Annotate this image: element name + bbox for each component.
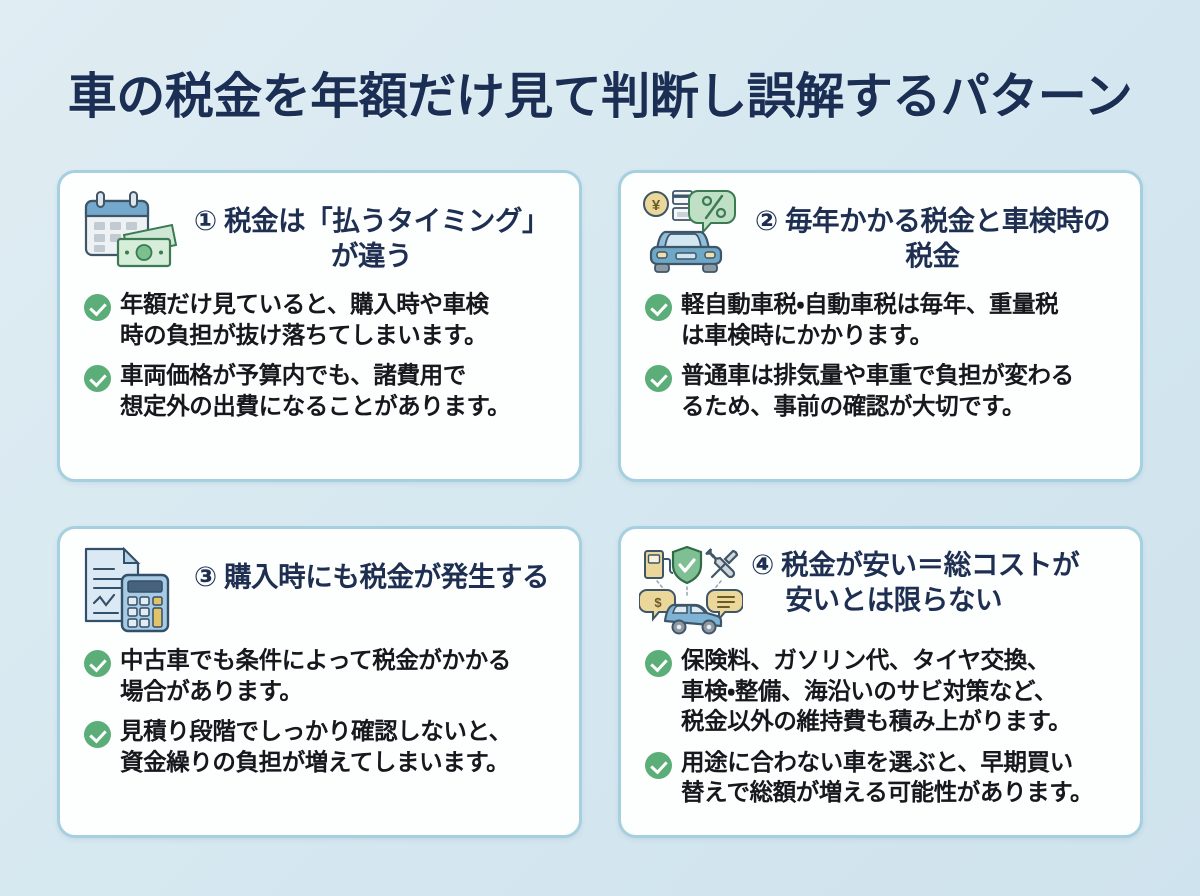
check-circle-icon: [84, 650, 111, 677]
bullet-item: 保険料、ガソリン代、タイヤ交換、 車検・整備、海沿いのサビ対策など、 税金以外の…: [645, 645, 1120, 737]
card-4-bullets: 保険料、ガソリン代、タイヤ交換、 車検・整備、海沿いのサビ対策など、 税金以外の…: [639, 645, 1122, 808]
check-circle-icon: [84, 365, 111, 392]
card-1-bullets: 年額だけ見ていると、購入時や車検 時の負担が抜け落ちてしまいます。 車両価格が予…: [78, 289, 561, 421]
page-title: 車の税金を年額だけ見て判断し誤解するパターン: [0, 57, 1200, 128]
card-1: ① 税金は「払うタイミング」が違う 年額だけ見ていると、購入時や車検 時の負担が…: [57, 170, 582, 482]
check-circle-icon: [645, 365, 672, 392]
card-4: $: [618, 526, 1143, 838]
card-2-title: ② 毎年かかる税金と車検時の税金: [743, 187, 1122, 273]
bullet-item: 用途に合わない車を選ぶと、早期買い 替えで総額が増える可能性があります。: [645, 747, 1120, 808]
check-circle-icon: [645, 650, 672, 677]
card-4-header: $: [639, 543, 1122, 635]
bullet-item: 中古車でも条件によって税金がかかる 場合があります。: [84, 645, 559, 706]
bullet-item: 普通車は排気量や車重で負担が変わる るため、事前の確認が大切です。: [645, 360, 1120, 421]
check-circle-icon: [84, 294, 111, 321]
bullet-text: 用途に合わない車を選ぶと、早期買い 替えで総額が増える可能性があります。: [681, 747, 1093, 808]
bullet-text: 軽自動車税・自動車税は毎年、重量税 は車検時にかかります。: [681, 289, 1058, 350]
card-3-bullets: 中古車でも条件によって税金がかかる 場合があります。 見積り段階でしっかり確認し…: [78, 645, 561, 777]
card-2-header: ¥: [639, 187, 1122, 279]
check-circle-icon: [84, 721, 111, 748]
check-circle-icon: [645, 294, 672, 321]
bullet-item: 軽自動車税・自動車税は毎年、重量税 は車検時にかかります。: [645, 289, 1120, 350]
svg-text:$: $: [654, 595, 662, 610]
svg-text:¥: ¥: [652, 197, 661, 214]
card-grid: ① 税金は「払うタイミング」が違う 年額だけ見ていると、購入時や車検 時の負担が…: [57, 170, 1143, 838]
bullet-text: 保険料、ガソリン代、タイヤ交換、 車検・整備、海沿いのサビ対策など、 税金以外の…: [681, 645, 1071, 737]
bullet-item: 見積り段階でしっかり確認しないと、 資金繰りの負担が増えてしまいます。: [84, 716, 559, 777]
card-3: ③ 購入時にも税金が発生する 中古車でも条件によって税金がかかる 場合があります…: [57, 526, 582, 838]
calendar-money-icon: [78, 187, 182, 279]
bullet-text: 見積り段階でしっかり確認しないと、 資金繰りの負担が増えてしまいます。: [120, 716, 512, 777]
card-1-header: ① 税金は「払うタイミング」が違う: [78, 187, 561, 279]
car-yen-percent-icon: ¥: [639, 187, 743, 279]
car-maintenance-cost-icon: $: [639, 543, 743, 635]
check-circle-icon: [645, 752, 672, 779]
bullet-text: 普通車は排気量や車重で負担が変わる るため、事前の確認が大切です。: [681, 360, 1074, 421]
bullet-item: 車両価格が予算内でも、諸費用で 想定外の出費になることがあります。: [84, 360, 559, 421]
bullet-text: 中古車でも条件によって税金がかかる 場合があります。: [120, 645, 511, 706]
infographic-page: 車の税金を年額だけ見て判断し誤解するパターン: [0, 0, 1200, 896]
bullet-text: 車両価格が予算内でも、諸費用で 想定外の出費になることがあります。: [120, 360, 510, 421]
bullet-item: 年額だけ見ていると、購入時や車検 時の負担が抜け落ちてしまいます。: [84, 289, 559, 350]
bullet-text: 年額だけ見ていると、購入時や車検 時の負担が抜け落ちてしまいます。: [120, 289, 489, 350]
document-calculator-icon: [78, 543, 182, 635]
card-4-title: ④ 税金が安い＝総コストが 安いとは限らない: [743, 543, 1122, 617]
card-2-bullets: 軽自動車税・自動車税は毎年、重量税 は車検時にかかります。 普通車は排気量や車重…: [639, 289, 1122, 421]
card-3-header: ③ 購入時にも税金が発生する: [78, 543, 561, 635]
card-3-title: ③ 購入時にも税金が発生する: [182, 543, 561, 594]
card-1-title: ① 税金は「払うタイミング」が違う: [182, 187, 561, 273]
card-2: ¥: [618, 170, 1143, 482]
